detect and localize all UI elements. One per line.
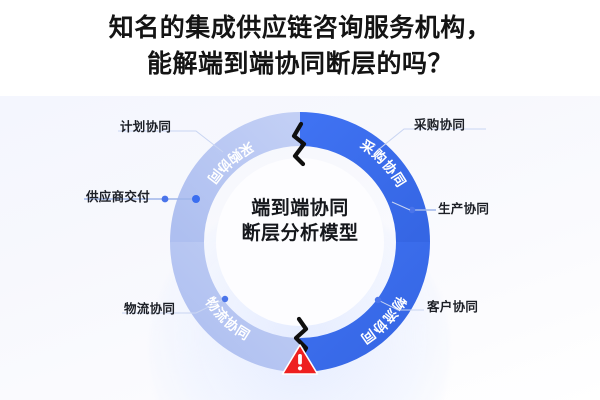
center-line-1: 端到端协同 [215, 196, 385, 221]
page-title: 知名的集成供应链咨询服务机构， 能解端到端协同断层的吗？ [0, 10, 600, 82]
callout-label-customer[interactable]: 客户协同 [427, 296, 478, 315]
callout-label-procure[interactable]: 采购协同 [414, 114, 465, 133]
callout-label-produce[interactable]: 生产协同 [438, 198, 489, 217]
title-line-1: 知名的集成供应链咨询服务机构， [0, 10, 600, 46]
callout-label-plan[interactable]: 计划协同 [120, 116, 171, 135]
center-label: 端到端协同 断层分析模型 [215, 196, 385, 246]
warning-triangle-icon [281, 343, 319, 377]
connector-customer [375, 297, 424, 310]
title-line-2: 能解端到端协同断层的吗？ [0, 46, 600, 82]
center-line-2: 断层分析模型 [215, 221, 385, 246]
infographic-canvas: 知名的集成供应链咨询服务机构， 能解端到端协同断层的吗？ [0, 0, 600, 400]
callout-label-supplier[interactable]: 供应商交付 [86, 186, 150, 205]
connector-produce [392, 202, 436, 213]
callout-label-logistics[interactable]: 物流协同 [124, 298, 175, 317]
